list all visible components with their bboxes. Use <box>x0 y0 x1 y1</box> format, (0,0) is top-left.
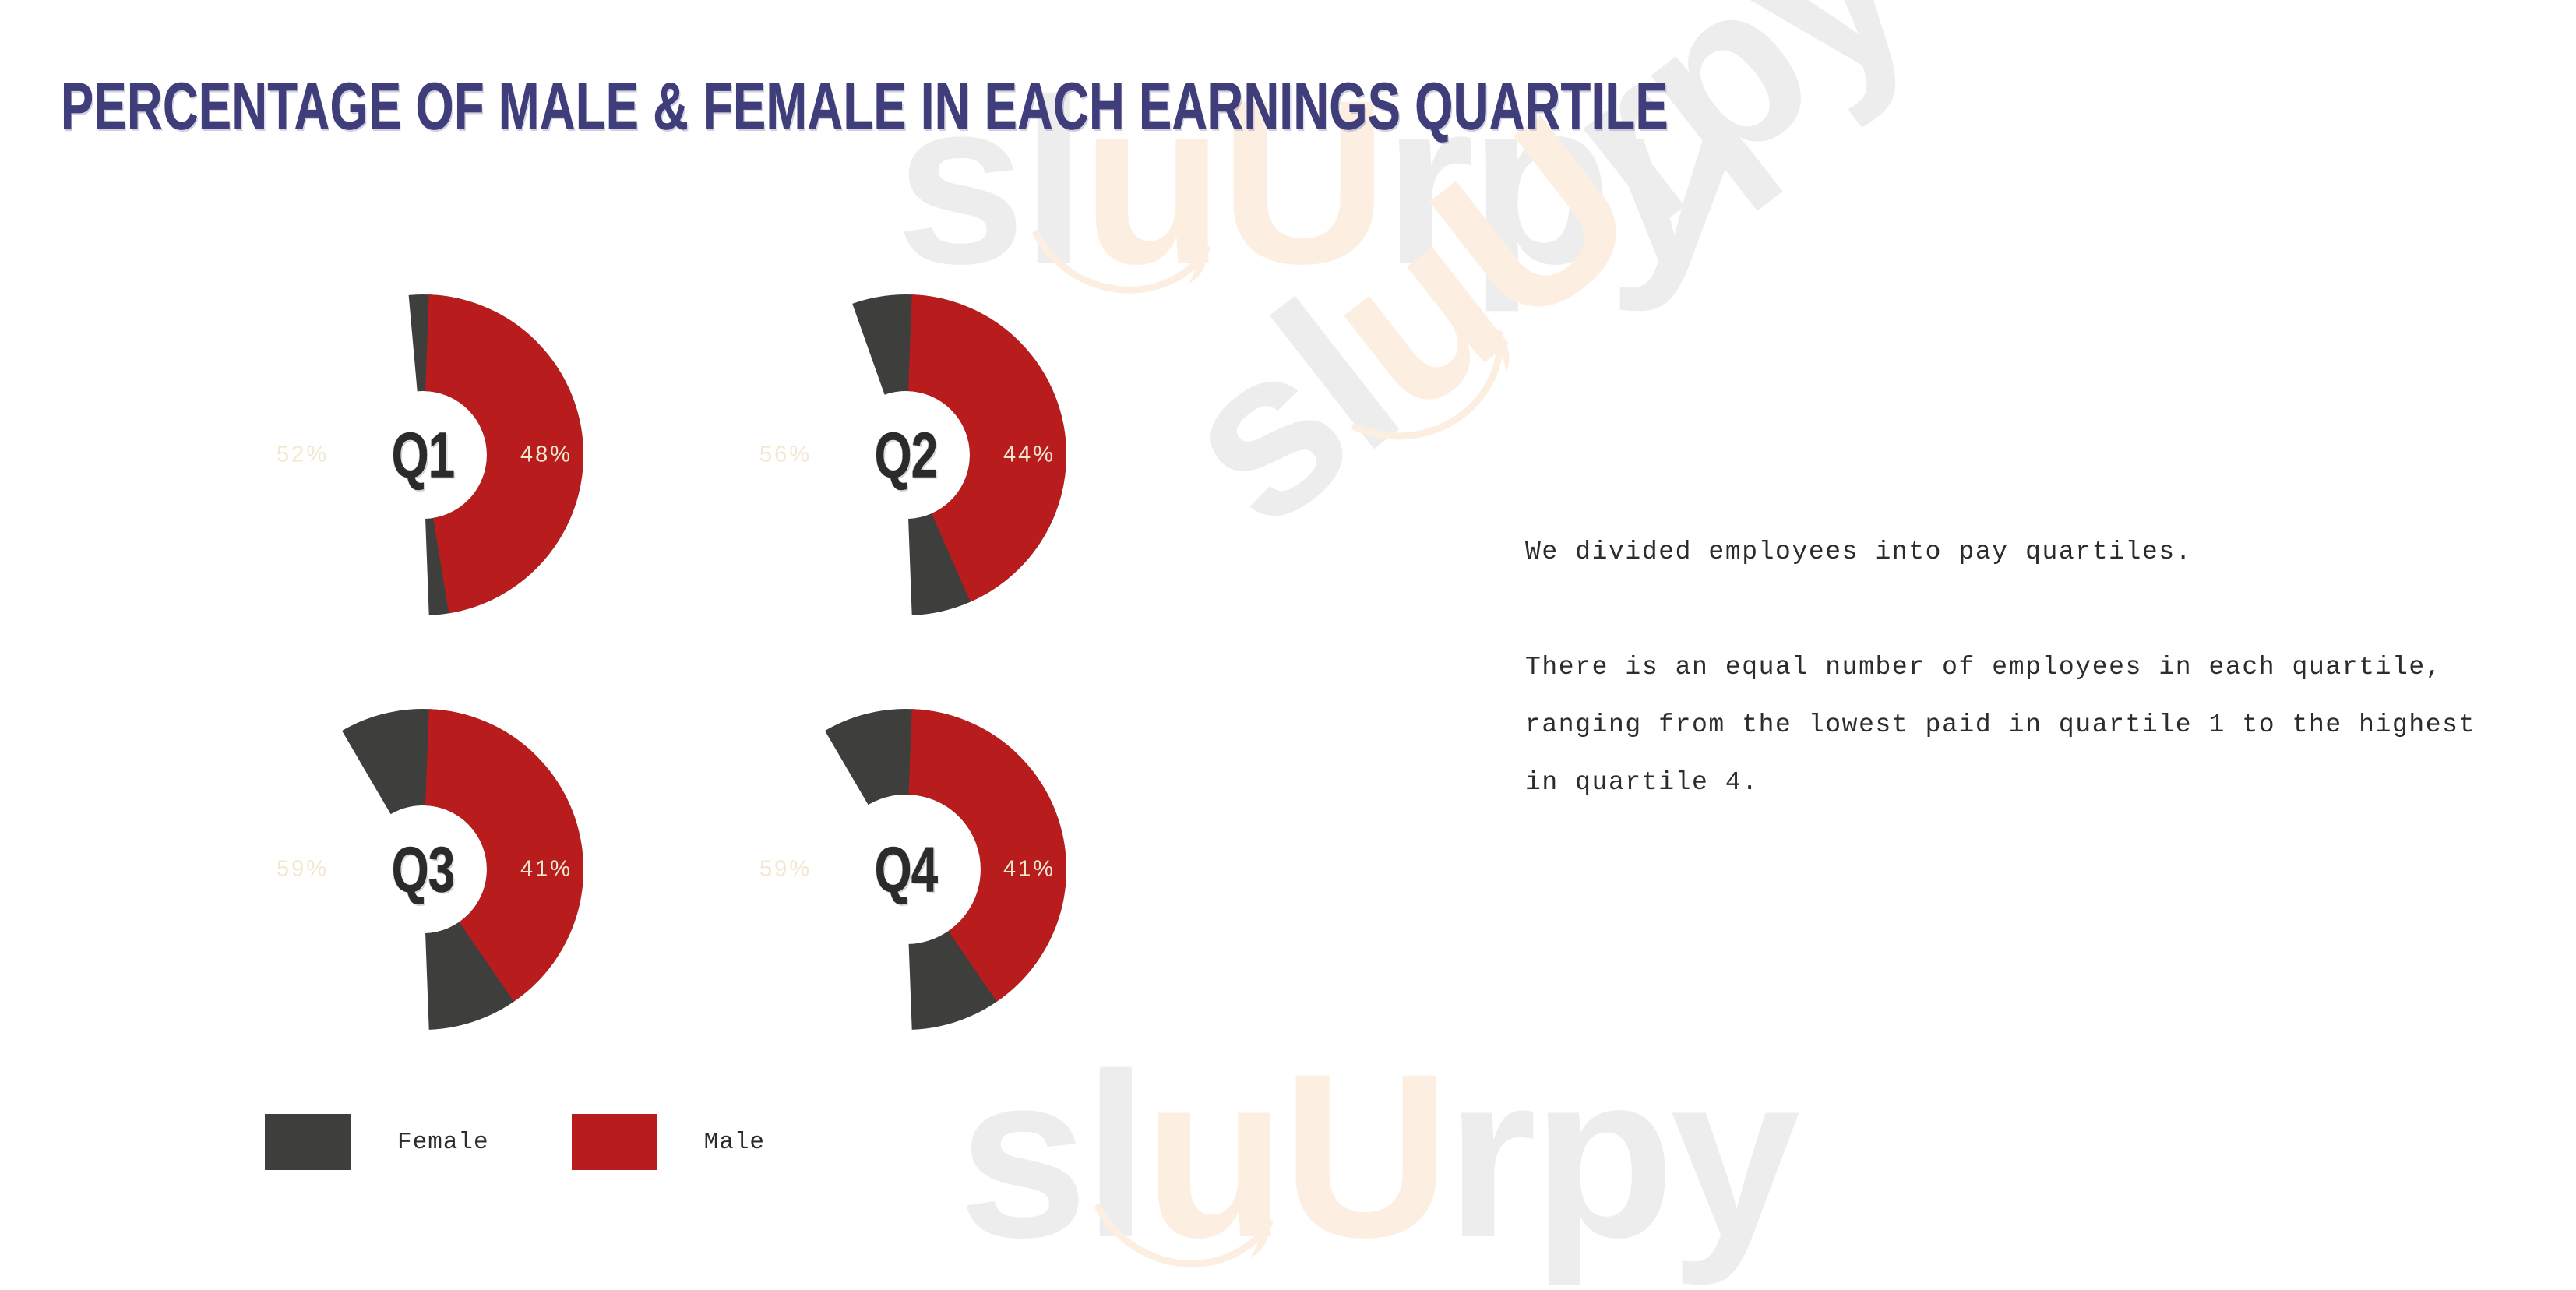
donut-pct-male-q2: 44% <box>1003 442 1055 468</box>
donut-chart-q2: Q2 56% 44% <box>745 294 1066 615</box>
donut-pct-female-q2: 56% <box>759 442 812 468</box>
chart-legend: Female Male <box>265 1114 765 1170</box>
female-swatch-icon <box>265 1114 351 1170</box>
description-paragraph-1: We divided employees into pay quartiles. <box>1525 523 2507 581</box>
donut-pct-male-q1: 48% <box>520 442 573 468</box>
watermark-swoosh-icon <box>1330 263 1581 493</box>
page-title: PERCENTAGE OF MALE & FEMALE IN EACH EARN… <box>61 74 1669 140</box>
watermark-swoosh-icon <box>1091 1176 1324 1285</box>
description-block: We divided employees into pay quartiles.… <box>1525 523 2507 812</box>
page-header: PERCENTAGE OF MALE & FEMALE IN EACH EARN… <box>61 74 1998 133</box>
watermark-text-part3: rpy <box>1446 1024 1795 1286</box>
male-swatch-icon <box>572 1114 657 1170</box>
description-paragraph-2: There is an equal number of employees in… <box>1525 639 2507 812</box>
donut-pct-male-q3: 41% <box>520 857 573 883</box>
donut-pct-female-q3: 59% <box>277 857 329 883</box>
watermark-text-part1: sl <box>958 1024 1144 1286</box>
donut-pct-female-q1: 52% <box>277 442 329 468</box>
donut-pct-male-q4: 41% <box>1003 857 1055 883</box>
donut-chart-q4: Q4 59% 41% <box>745 709 1066 1030</box>
donut-pct-female-q4: 59% <box>759 857 812 883</box>
legend-label-female: Female <box>397 1129 489 1156</box>
watermark-text-part2: uU <box>1144 1024 1446 1286</box>
legend-item-female: Female <box>265 1114 489 1170</box>
legend-label-male: Male <box>704 1129 765 1156</box>
sluurpy-watermark-bottom: sluUrpy <box>958 1020 1795 1290</box>
donut-chart-q1: Q1 52% 48% <box>263 294 583 615</box>
legend-item-male: Male <box>572 1114 765 1170</box>
watermark-text-part1: sl <box>1132 255 1440 575</box>
donut-chart-q3: Q3 59% 41% <box>263 709 583 1030</box>
